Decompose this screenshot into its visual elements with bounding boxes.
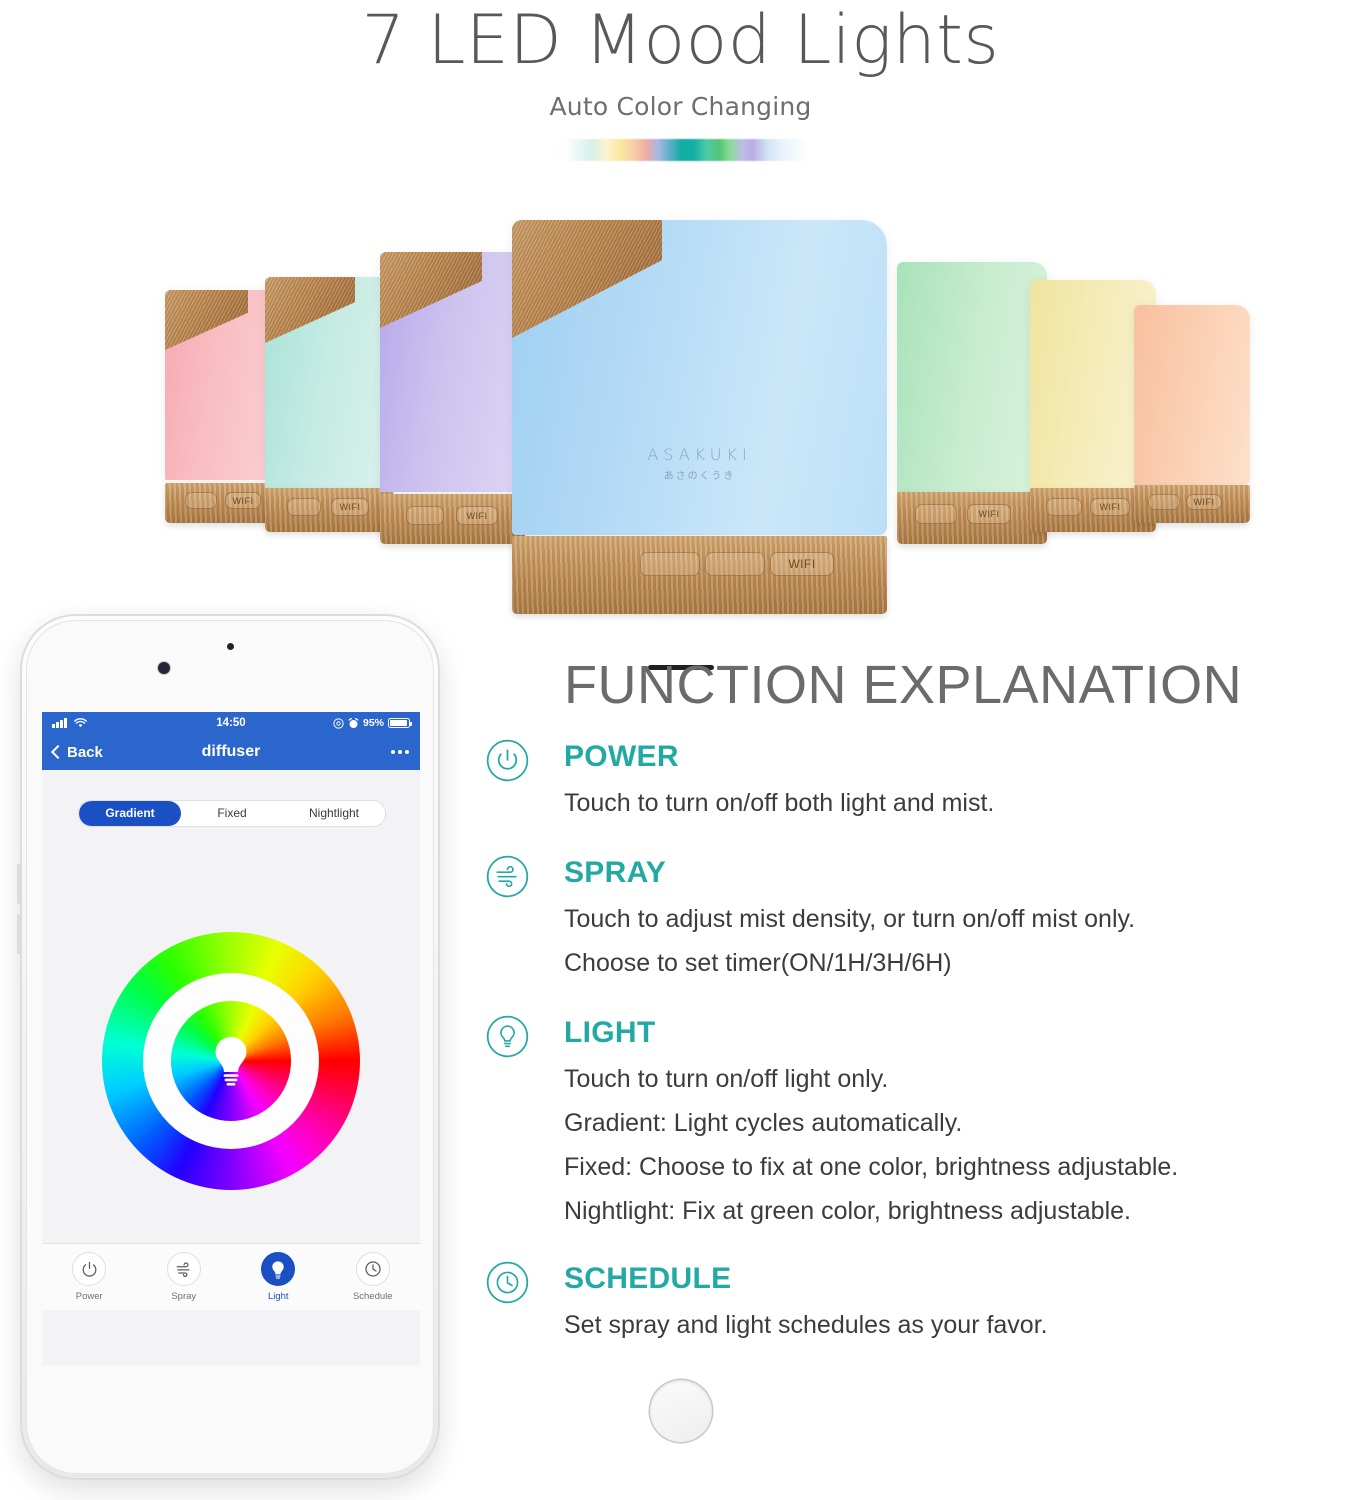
diffuser-button-2 [705,552,765,576]
diffuser-button [915,504,957,524]
brand-block: ASAKUKI あさのくうき [512,445,887,482]
wifi-label: WIFI [456,506,498,525]
rotation-lock-icon [333,718,344,729]
function-line: Set spray and light schedules as your fa… [564,1303,1342,1347]
tab-schedule-label: Schedule [353,1291,393,1302]
diffuser-wood-base: WIFI [1134,485,1250,523]
function-explanation-section: FUNCTION EXPLANATION POWER Touch to turn… [462,655,1342,1347]
page-title: 7 LED Mood Lights [0,2,1361,80]
status-bar-left [52,718,87,729]
ios-status-bar: 14:50 95% [42,712,420,734]
tab-light-label: Light [268,1291,289,1302]
diffuser-button [185,492,217,509]
brand-name: ASAKUKI [512,445,887,464]
spray-circle-icon [486,855,529,898]
tab-schedule[interactable]: Schedule [326,1252,421,1302]
diffuser-button [1148,494,1180,510]
volume-up-button[interactable] [17,864,20,904]
function-heading: SCHEDULE [564,1259,1342,1299]
hero-header: 7 LED Mood Lights Auto Color Changing [0,0,1361,161]
bulb-circle-icon [486,1015,529,1058]
function-item-light: LIGHT Touch to turn on/off light only. G… [462,1013,1342,1233]
power-circle-icon [486,739,529,782]
function-heading: SPRAY [564,853,1342,893]
function-item-power: POWER Touch to turn on/off both light an… [462,737,1342,825]
spray-icon [167,1252,201,1286]
color-wheel-outer-ring[interactable] [102,932,360,1190]
segment-fixed[interactable]: Fixed [181,801,283,826]
wifi-icon [74,718,87,729]
diffuser-green: WIFI [897,262,1047,522]
tab-power-label: Power [76,1291,103,1302]
app-nav-bar: Back diffuser [42,734,420,770]
diffuser-shade [897,262,1047,494]
diffuser-wood-base: WIFI [897,492,1047,544]
wifi-label: WIFI [225,492,261,509]
diffuser-wood-base: WIFI [265,488,393,532]
clock-circle-icon [486,1261,529,1304]
function-line: Nightlight: Fix at green color, brightne… [564,1189,1342,1233]
home-button[interactable] [650,1380,712,1442]
diffuser-button [406,506,444,525]
phone-screen: 14:50 95% Back diffuser Gradient Fixed [42,712,420,1366]
color-spectrum-strip [553,139,809,161]
back-button[interactable]: Back [53,744,103,761]
product-lineup: WIFI WIFI WIFI ASAKUKI あさのくうき [0,200,1361,600]
function-line: Fixed: Choose to fix at one color, brigh… [564,1145,1342,1189]
function-heading: POWER [564,737,1342,777]
back-button-label: Back [67,744,103,761]
front-camera-icon [158,662,170,674]
diffuser-blue-center: ASAKUKI あさのくうき WIFI [512,220,887,580]
function-line: Gradient: Light cycles automatically. [564,1101,1342,1145]
alarm-clock-icon [348,718,359,729]
segment-nightlight[interactable]: Nightlight [283,801,385,826]
diffuser-lavender: WIFI [380,252,525,522]
proximity-sensor [227,643,234,650]
signal-bars-icon [52,719,67,728]
function-item-schedule: SCHEDULE Set spray and light schedules a… [462,1259,1342,1347]
light-panel: Gradient Fixed Nightlight [42,770,420,1310]
diffuser-wood-base: WIFI [512,536,887,614]
segment-gradient[interactable]: Gradient [79,801,181,826]
wifi-label: WIFI [1090,498,1130,516]
color-spectrum-strip-wrap [0,139,1361,161]
battery-percent-label: 95% [363,717,384,729]
tab-spray-label: Spray [171,1291,196,1302]
diffuser-button [1046,498,1082,516]
page-subtitle: Auto Color Changing [0,92,1361,121]
function-line: Choose to set timer(ON/1H/3H/6H) [564,941,1342,985]
wifi-label: WIFI [967,504,1011,524]
tab-spray[interactable]: Spray [137,1252,232,1302]
diffuser-button [287,498,321,516]
diffuser-wood-base: WIFI [380,494,525,544]
clock-icon [356,1252,390,1286]
function-line: Touch to turn on/off light only. [564,1057,1342,1101]
light-mode-segmented-control[interactable]: Gradient Fixed Nightlight [78,800,386,827]
tab-power[interactable]: Power [42,1252,137,1302]
function-heading: LIGHT [564,1013,1342,1053]
tab-light[interactable]: Light [231,1252,326,1302]
section-title: FUNCTION EXPLANATION [564,655,1342,715]
power-icon [72,1252,106,1286]
wifi-label: WIFI [1186,494,1222,510]
battery-icon [388,718,410,728]
diffuser-aqua: WIFI [265,277,393,512]
function-line: Touch to adjust mist density, or turn on… [564,897,1342,941]
wifi-label: WIFI [770,552,834,576]
more-dots-icon[interactable] [391,750,409,754]
diffuser-button-1 [640,552,700,576]
diffuser-peach: WIFI [1134,305,1250,505]
chevron-left-icon [51,745,65,759]
app-tab-bar: Power Spray [42,1243,420,1310]
bulb-icon [261,1252,295,1286]
wifi-label: WIFI [331,498,369,516]
status-bar-right: 95% [333,717,410,729]
diffuser-shade [1134,305,1250,485]
light-bulb-icon[interactable] [209,1035,253,1087]
function-item-spray: SPRAY Touch to adjust mist density, or t… [462,853,1342,985]
volume-down-button[interactable] [17,914,20,954]
brand-name-jp: あさのくうき [512,467,887,482]
function-line: Touch to turn on/off both light and mist… [564,781,1342,825]
